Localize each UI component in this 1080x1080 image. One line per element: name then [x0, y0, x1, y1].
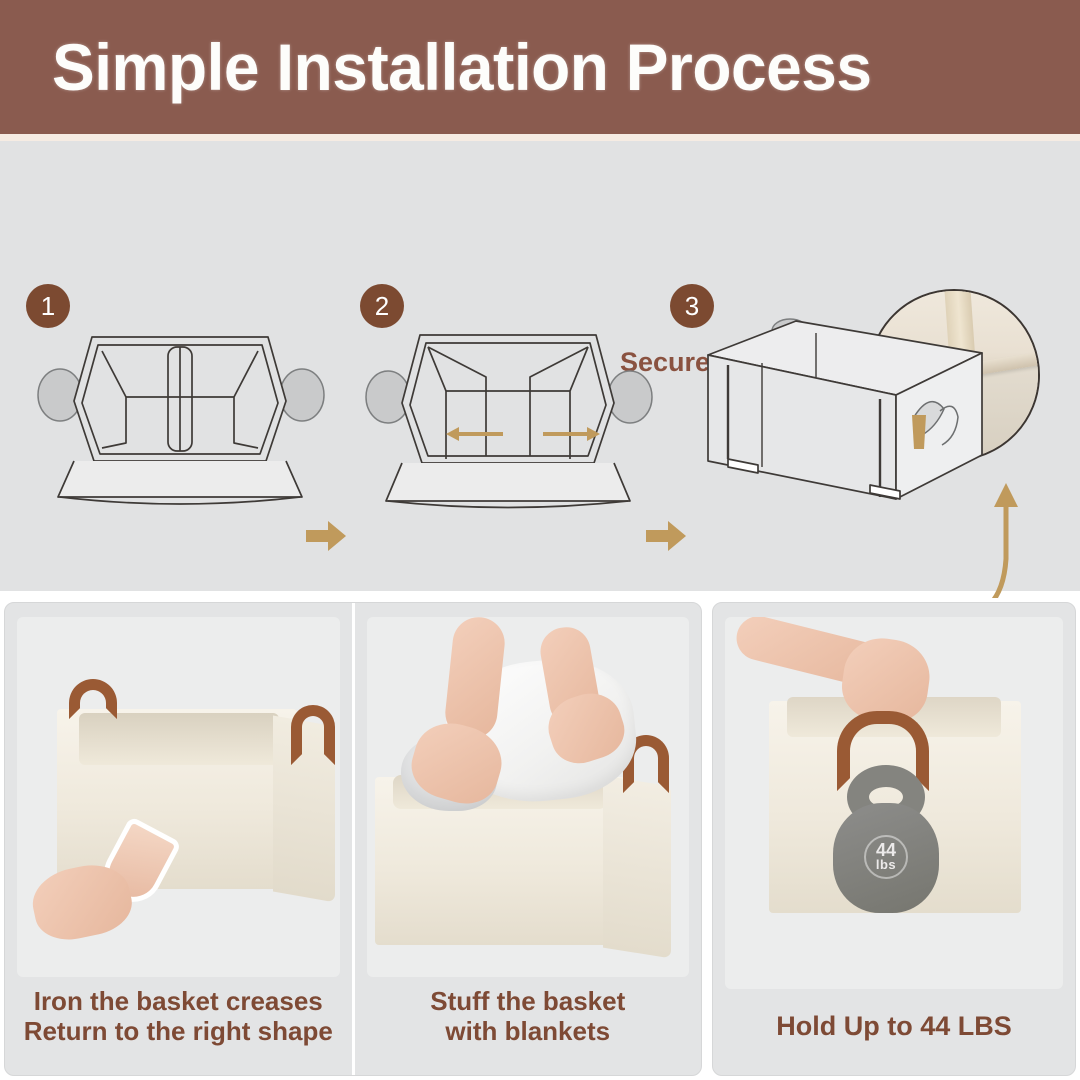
stuff-blankets-photo	[367, 617, 690, 977]
card-group-left: Iron the basket creases Return to the ri…	[4, 602, 702, 1076]
kettlebell-weight-medallion: 44 lbs	[864, 835, 908, 879]
card-hold-capacity: 44 lbs Hold Up to 44 LBS	[713, 603, 1075, 1042]
step-arrow-2-icon	[646, 519, 686, 553]
card-blankets-caption: Stuff the basket with blankets	[430, 987, 625, 1047]
step-2-diagram-icon	[358, 311, 658, 531]
step-arrow-1-icon	[306, 519, 346, 553]
kettlebell-weight-unit: lbs	[876, 859, 896, 871]
iron-basket-photo	[17, 617, 340, 977]
card-iron-basket: Iron the basket creases Return to the ri…	[5, 603, 352, 1075]
header-banner: Simple Installation Process	[0, 0, 1080, 134]
kettlebell-capacity-photo: 44 lbs	[725, 617, 1063, 989]
basket-handle-right	[291, 705, 335, 765]
step-1-diagram-icon	[30, 311, 330, 531]
basket-interior	[79, 713, 279, 765]
basket-handle-left	[69, 679, 117, 719]
page-title: Simple Installation Process	[52, 29, 871, 105]
infographic-page: Simple Installation Process Secure with …	[0, 0, 1080, 1080]
card-stuff-blankets: Stuff the basket with blankets	[352, 603, 702, 1075]
card-group-right: 44 lbs Hold Up to 44 LBS	[712, 602, 1076, 1076]
banner-underline	[0, 134, 1080, 141]
bottom-cards-section: Iron the basket creases Return to the ri…	[0, 598, 1080, 1080]
basket-side-panel	[603, 776, 671, 959]
card-iron-caption: Iron the basket creases Return to the ri…	[24, 987, 333, 1047]
card-capacity-caption: Hold Up to 44 LBS	[776, 1011, 1012, 1042]
installation-steps-section: Secure with velcro 1	[0, 141, 1080, 591]
